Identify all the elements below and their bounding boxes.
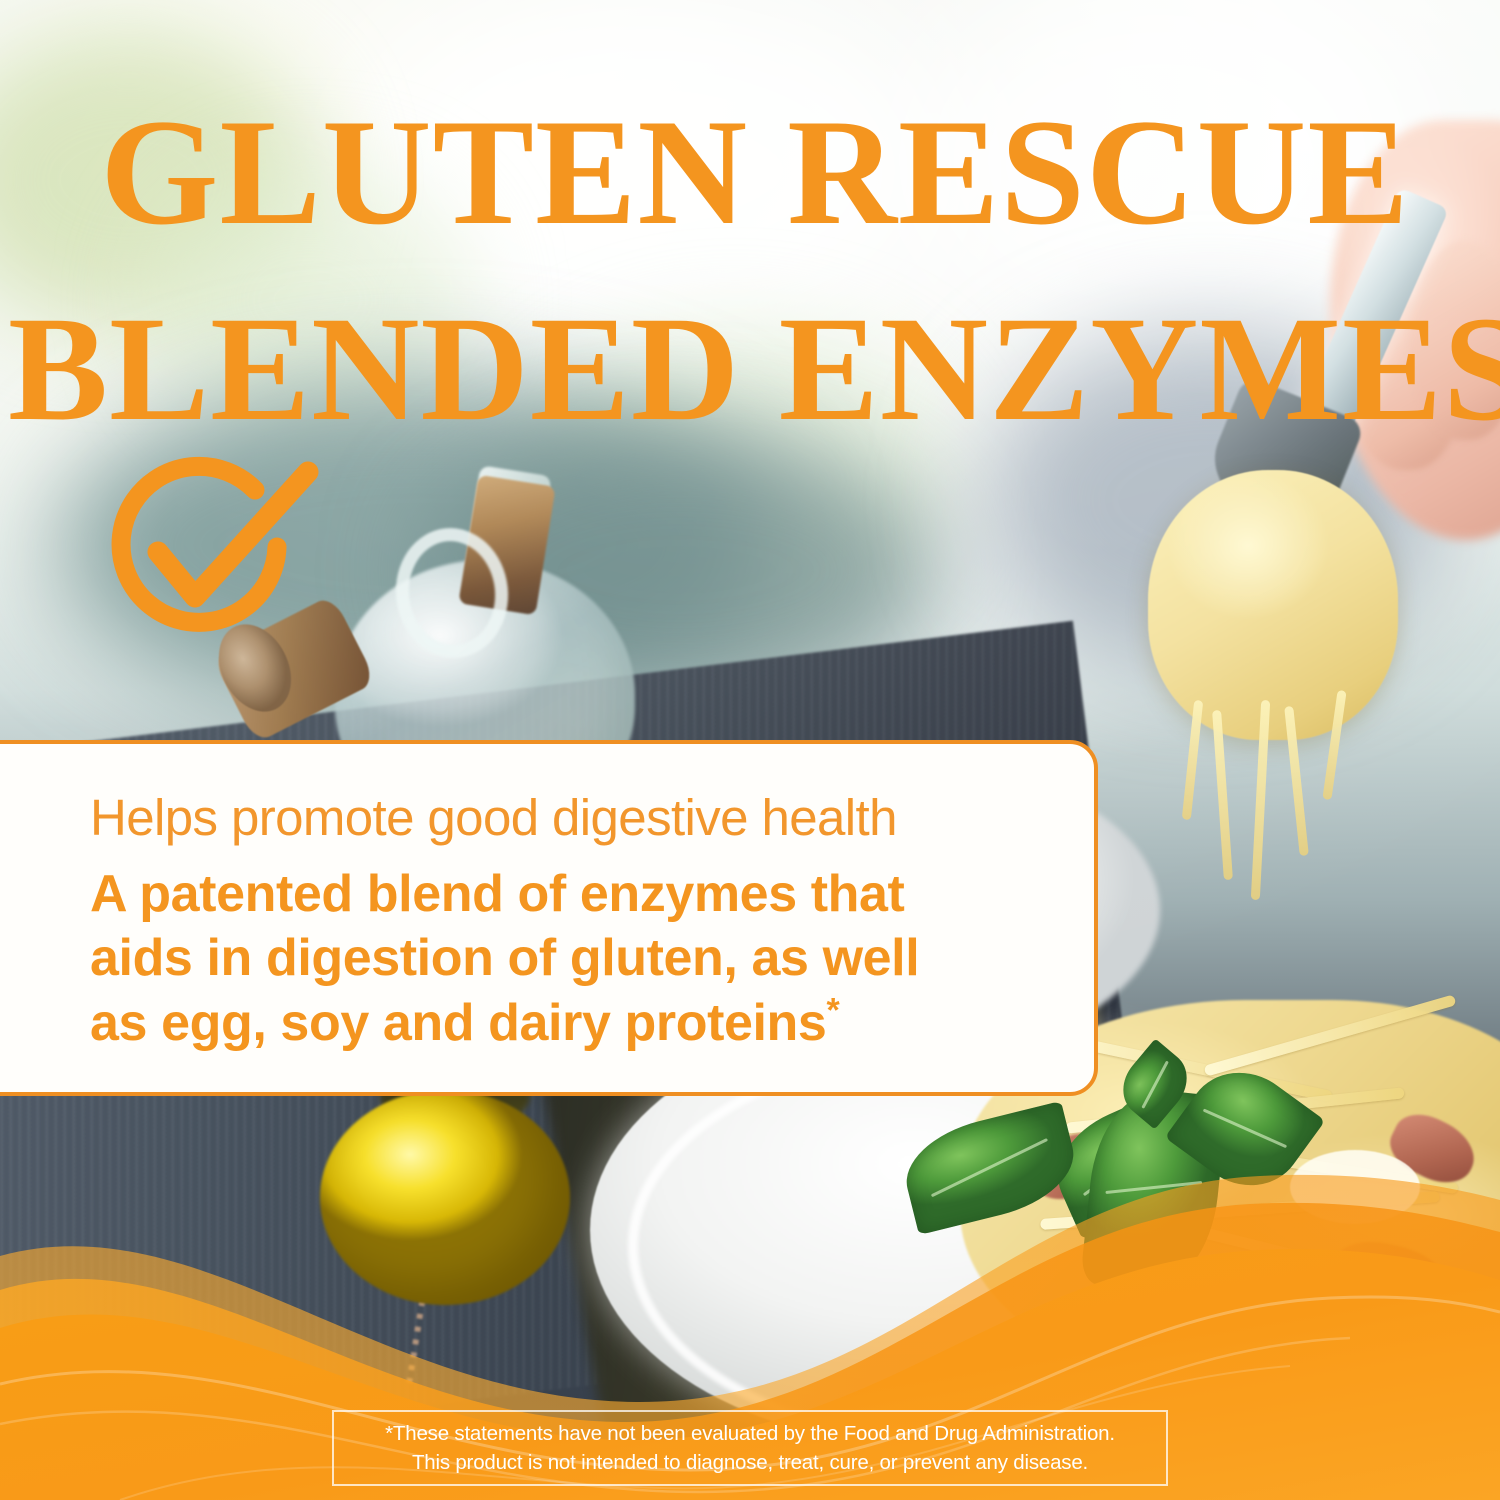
disclaimer-line-2: This product is not intended to diagnose… bbox=[412, 1448, 1088, 1477]
disclaimer-line-1: *These statements have not been evaluate… bbox=[385, 1419, 1115, 1448]
headline-line-2: BLENDED ENZYMES✻ bbox=[0, 294, 1500, 444]
claim-body-superscript: * bbox=[826, 992, 839, 1030]
claim-body-line-2: aids in digestion of gluten, as well bbox=[90, 926, 1050, 990]
yellow-oil-bottle bbox=[320, 1090, 570, 1305]
claim-card: Helps promote good digestive health A pa… bbox=[0, 740, 1098, 1096]
claim-body-line-1: A patented blend of enzymes that bbox=[90, 862, 1050, 926]
fda-disclaimer-box: *These statements have not been evaluate… bbox=[332, 1410, 1168, 1486]
grated-cheese bbox=[1290, 1150, 1420, 1224]
headline-line-2-text: BLENDED ENZYMES bbox=[8, 286, 1500, 452]
pasta-twirl-on-fork bbox=[1148, 470, 1398, 740]
headline-line-1-text: GLUTEN RESCUE bbox=[100, 88, 1410, 256]
claim-body-line-3-text: as egg, soy and dairy proteins bbox=[90, 994, 826, 1052]
claim-body-text: A patented blend of enzymes that aids in… bbox=[90, 862, 1050, 1055]
headline-line-1: GLUTEN RESCUE bbox=[0, 96, 1500, 248]
headline-block: GLUTEN RESCUE BLENDED ENZYMES✻ bbox=[0, 96, 1500, 444]
product-promo-image: GLUTEN RESCUE BLENDED ENZYMES✻ Helps pro… bbox=[0, 0, 1500, 1500]
claim-lead-text: Helps promote good digestive health bbox=[90, 792, 1050, 844]
check-circle-icon bbox=[92, 455, 322, 660]
claim-body-line-3: as egg, soy and dairy proteins* bbox=[90, 991, 1050, 1055]
